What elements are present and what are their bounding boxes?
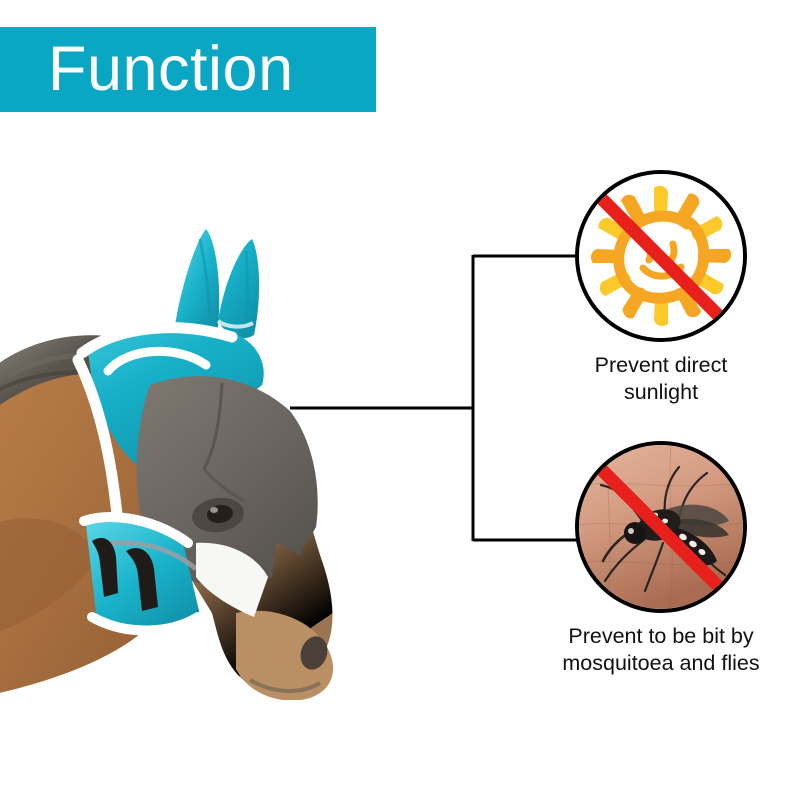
no-mosquito-icon <box>575 441 747 613</box>
feature-sunlight: Prevent direct sunlight <box>541 170 781 406</box>
infographic-page: Function <box>0 0 800 800</box>
mask-ear-right <box>175 229 219 334</box>
feature-sunlight-caption: Prevent direct sunlight <box>595 352 728 406</box>
feature-mosquito: Prevent to be bit by mosquitoea and flie… <box>541 441 781 677</box>
header-banner: Function <box>0 27 376 112</box>
no-sun-icon <box>575 170 747 342</box>
page-title: Function <box>0 38 294 101</box>
product-photo <box>0 225 380 700</box>
feature-mosquito-caption: Prevent to be bit by mosquitoea and flie… <box>562 623 759 677</box>
